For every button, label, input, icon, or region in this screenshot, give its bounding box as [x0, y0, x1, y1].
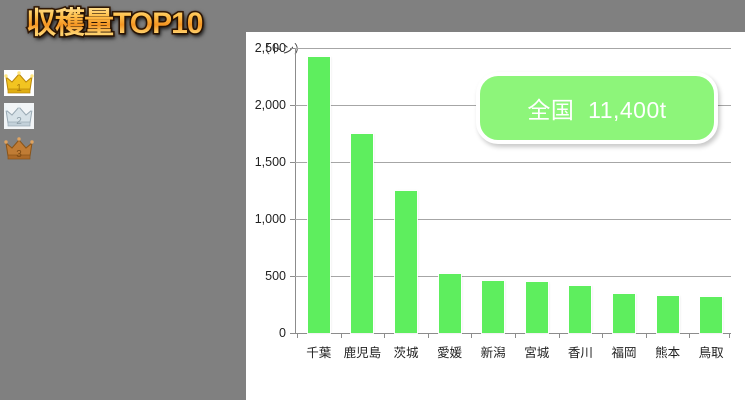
x-axis-tick	[428, 333, 429, 338]
bar-宮城	[526, 282, 548, 333]
x-axis-label-鹿児島: 鹿児島	[344, 342, 382, 361]
x-axis-label-福岡: 福岡	[611, 342, 636, 361]
x-axis-tick	[602, 333, 603, 338]
x-axis-label-千葉: 千葉	[306, 342, 331, 361]
rank-number-3: 3	[16, 149, 22, 160]
y-axis-tick	[290, 105, 295, 106]
x-axis-tick	[559, 333, 560, 338]
y-axis-label: 500	[265, 269, 286, 283]
bar-新潟	[482, 281, 504, 333]
x-axis-tick	[729, 333, 730, 338]
left-gray-background	[0, 0, 246, 400]
y-axis-label: 2,000	[255, 98, 286, 112]
x-axis-tick	[689, 333, 690, 338]
bar-鳥取	[700, 297, 722, 333]
y-axis-tick	[290, 333, 295, 334]
x-axis-tick	[384, 333, 385, 338]
y-axis-tick	[290, 162, 295, 163]
page-title: 収穫量TOP10	[26, 4, 203, 44]
x-axis-tick	[341, 333, 342, 338]
y-axis-tick	[290, 219, 295, 220]
x-axis-tick	[297, 333, 298, 338]
top-gray-strip	[246, 0, 745, 32]
y-axis-tick	[290, 48, 295, 49]
x-axis-label-茨城: 茨城	[393, 342, 418, 361]
x-axis-tick	[646, 333, 647, 338]
gold-crown-icon: 1	[4, 70, 34, 96]
x-axis-label-鳥取: 鳥取	[699, 342, 724, 361]
y-axis-label: 1,500	[255, 155, 286, 169]
bar-茨城	[395, 191, 417, 334]
x-axis-label-新潟: 新潟	[481, 342, 506, 361]
rank-number-1: 1	[16, 83, 22, 94]
x-axis-label-熊本: 熊本	[655, 342, 680, 361]
y-axis-label: 2,500	[255, 41, 286, 55]
screenshot-root: 収穫量TOP10 収穫量TOP10 1 2 3	[0, 0, 745, 400]
bar-熊本	[657, 296, 679, 333]
x-axis-tick	[515, 333, 516, 338]
bar-愛媛	[439, 274, 461, 333]
x-axis-tick	[471, 333, 472, 338]
x-axis-line	[295, 333, 731, 334]
rank-number-2: 2	[16, 116, 22, 127]
bronze-crown-icon: 3	[4, 136, 34, 162]
x-axis-label-愛媛: 愛媛	[437, 342, 462, 361]
silver-crown-icon: 2	[4, 103, 34, 129]
y-axis-tick	[290, 276, 295, 277]
gridline	[295, 48, 731, 49]
x-axis-label-宮城: 宮城	[524, 342, 549, 361]
bar-鹿児島	[351, 134, 373, 334]
y-axis-label: 0	[279, 326, 286, 340]
y-axis-line	[295, 48, 296, 334]
bar-香川	[569, 286, 591, 333]
national-total-text: 全国 11,400t	[527, 91, 666, 125]
bar-福岡	[613, 294, 635, 333]
x-axis-label-香川: 香川	[568, 342, 593, 361]
y-axis-label: 1,000	[255, 212, 286, 226]
bar-千葉	[308, 57, 330, 333]
national-total-callout: 全国 11,400t	[476, 72, 718, 144]
chart-panel: （トン） 05001,0001,5002,0002,500千葉鹿児島茨城愛媛新潟…	[246, 32, 745, 400]
